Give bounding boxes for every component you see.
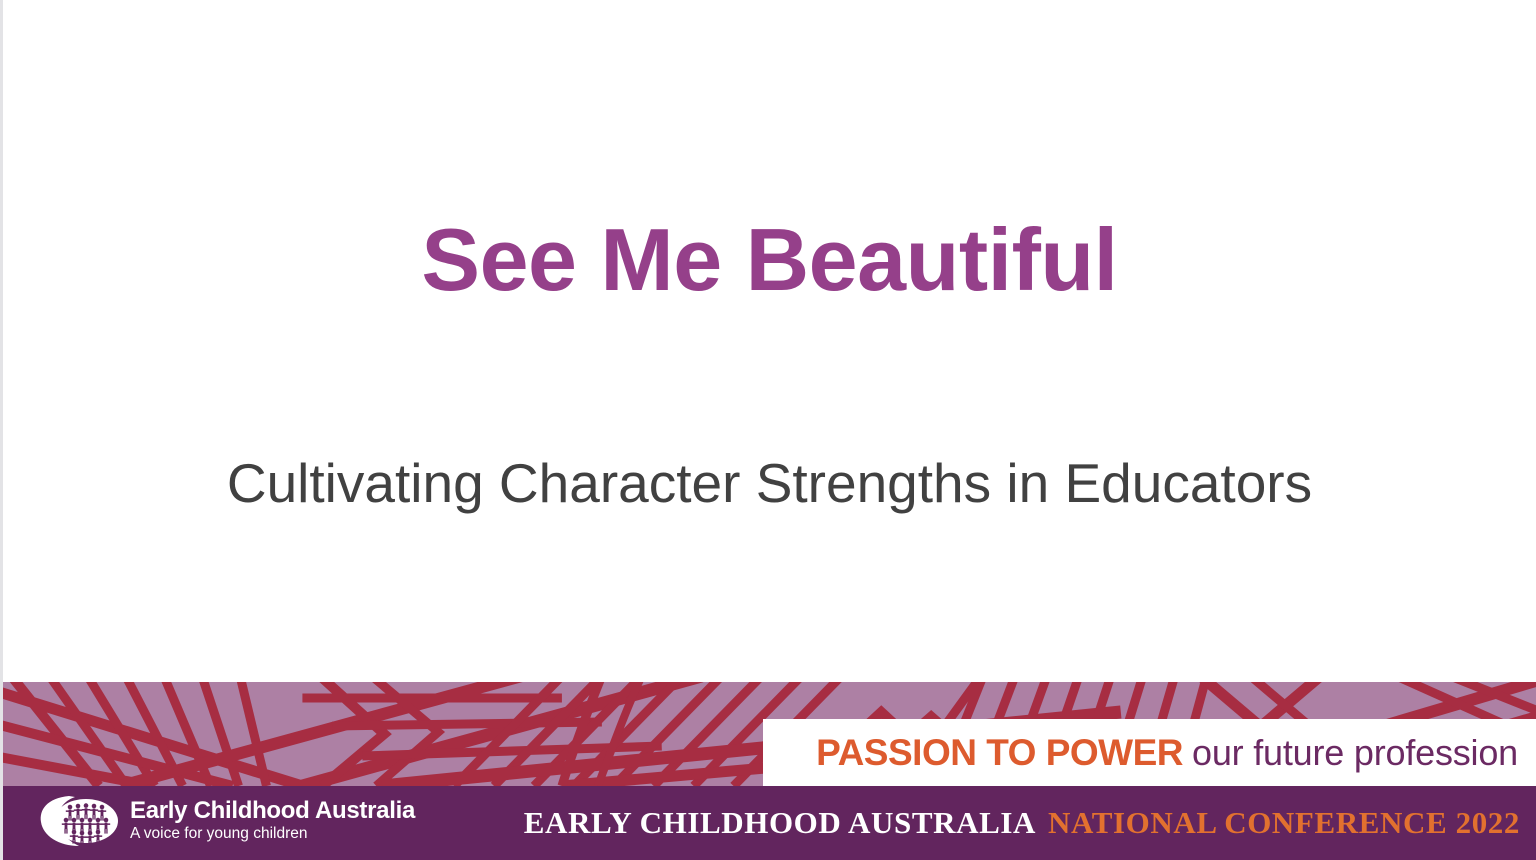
page-title: See Me Beautiful bbox=[3, 216, 1536, 304]
ellipse-people-logo-icon bbox=[39, 793, 123, 849]
tagline-strong-text: PASSION TO POWER bbox=[816, 732, 1183, 774]
organisation-logo: Early Childhood Australia A voice for yo… bbox=[39, 790, 415, 852]
slide-subtitle: Cultivating Character Strengths in Educa… bbox=[3, 455, 1536, 513]
tagline-light-text: our future profession bbox=[1192, 732, 1518, 774]
logo-organisation-name: Early Childhood Australia bbox=[130, 798, 415, 823]
logo-tagline: A voice for young children bbox=[130, 825, 415, 844]
conference-organisation-text: EARLY CHILDHOOD AUSTRALIA bbox=[524, 805, 1036, 841]
conference-event-text: NATIONAL CONFERENCE 2022 bbox=[1048, 805, 1520, 841]
conference-tagline-banner: PASSION TO POWER our future profession bbox=[763, 719, 1536, 786]
logo-text-block: Early Childhood Australia A voice for yo… bbox=[130, 798, 415, 844]
presentation-slide: See Me Beautiful Cultivating Character S… bbox=[0, 0, 1536, 860]
slide-content-area: See Me Beautiful Cultivating Character S… bbox=[3, 0, 1536, 682]
conference-title-line: EARLY CHILDHOOD AUSTRALIA NATIONAL CONFE… bbox=[524, 786, 1520, 860]
